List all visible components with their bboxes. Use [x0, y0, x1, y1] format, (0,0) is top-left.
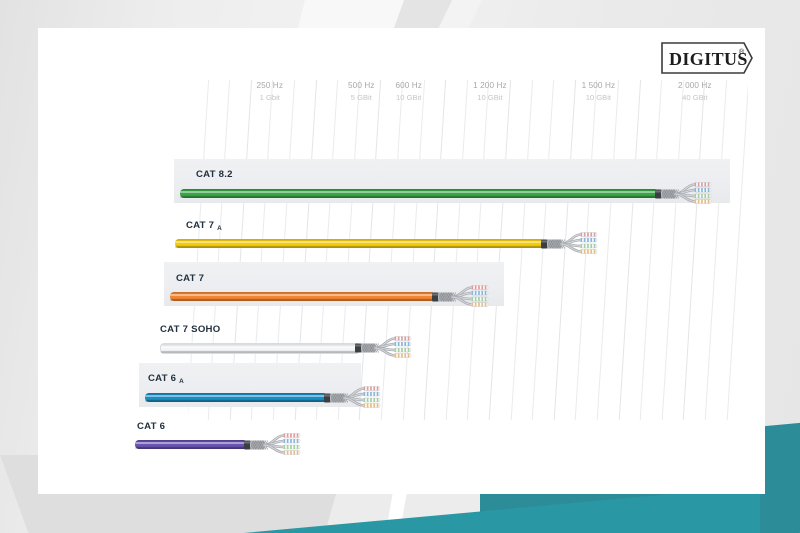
screenshot-stage: DIGITUS ® 250 Hz1 Gbit500 Hz5 GBit600 Hz… [0, 0, 800, 533]
axis-tick-1: 250 Hz1 Gbit [225, 80, 315, 104]
gridline [422, 80, 448, 420]
cable-stripped-end [432, 284, 490, 310]
axis-tick-bandwidth: 10 GBit [445, 92, 535, 104]
cable-label: CAT 7 [176, 273, 204, 284]
gridline [660, 80, 686, 420]
cable-label: CAT 8.2 [196, 169, 233, 180]
axis-tick-bandwidth: 40 GBit [650, 92, 740, 104]
cable-comparison-chart: 250 Hz1 Gbit500 Hz5 GBit600 Hz10 GBit1 2… [38, 28, 765, 494]
cable-stripped-end [324, 385, 382, 411]
gridline [444, 80, 470, 420]
cable-highlight [180, 191, 656, 193]
cable-shadow [180, 196, 656, 198]
cable-body [160, 343, 358, 354]
cable-highlight [135, 442, 245, 444]
gridline [400, 80, 426, 420]
cable-stripped-end [355, 335, 413, 361]
cable-highlight [145, 395, 325, 397]
infographic-card: DIGITUS ® 250 Hz1 Gbit500 Hz5 GBit600 Hz… [38, 28, 765, 494]
gridline [508, 80, 534, 420]
gridline [487, 80, 513, 420]
axis-tick-bandwidth: 10 GBit [553, 92, 643, 104]
cable-label: CAT 7 A [186, 220, 222, 231]
axis-tick-4: 1 200 Hz10 GBit [445, 80, 535, 104]
cable-stripped-end [655, 181, 713, 207]
cable-shadow [161, 351, 357, 353]
cable-shadow [145, 400, 325, 402]
cable-body [135, 440, 245, 449]
cable-highlight [161, 346, 357, 348]
gridline [681, 80, 707, 420]
cable-label-subscript: A [217, 225, 222, 232]
cable-body [145, 393, 325, 402]
cable-stripped-end [244, 432, 302, 458]
gridline [357, 80, 383, 420]
cable-label: CAT 7 SOHO [160, 324, 220, 335]
axis-tick-bandwidth: 1 Gbit [225, 92, 315, 104]
cable-body [175, 239, 542, 248]
cable-shadow [175, 246, 542, 248]
cable-shadow [170, 299, 433, 301]
gridline [465, 80, 491, 420]
cable-shadow [135, 447, 245, 449]
gridline [638, 80, 664, 420]
cable-body [180, 189, 656, 198]
cable-label: CAT 6 [137, 421, 165, 432]
axis-tick-6: 2 000 Hz40 GBit [650, 80, 740, 104]
gridline [724, 80, 748, 420]
gridline [616, 80, 642, 420]
axis-tick-3: 600 Hz10 GBit [364, 80, 454, 104]
cable-body [170, 292, 433, 301]
cable-highlight [175, 241, 542, 243]
axis-tick-frequency: 1 500 Hz [553, 80, 643, 92]
cable-label: CAT 6 A [148, 373, 184, 384]
axis-tick-5: 1 500 Hz10 GBit [553, 80, 643, 104]
cable-stripped-end [541, 231, 599, 257]
axis-tick-frequency: 2 000 Hz [650, 80, 740, 92]
axis-tick-frequency: 1 200 Hz [445, 80, 535, 92]
cable-highlight [170, 294, 433, 296]
axis-tick-frequency: 250 Hz [225, 80, 315, 92]
axis-tick-frequency: 600 Hz [364, 80, 454, 92]
chart-axis-labels: 250 Hz1 Gbit500 Hz5 GBit600 Hz10 GBit1 2… [38, 28, 765, 88]
gridline [703, 80, 729, 420]
cable-label-subscript: A [179, 378, 184, 385]
axis-tick-bandwidth: 10 GBit [364, 92, 454, 104]
gridline [379, 80, 405, 420]
